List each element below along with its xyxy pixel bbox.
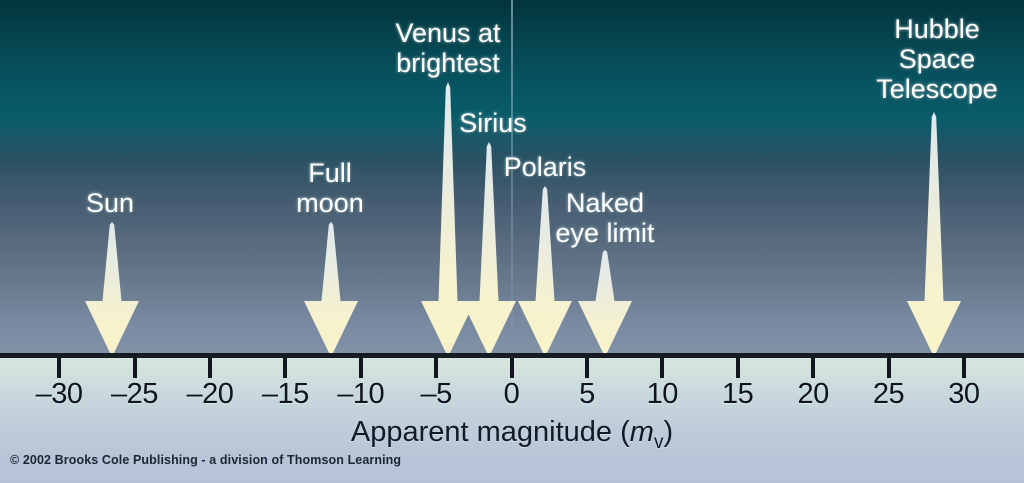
axis-title: Apparent magnitude (mv) bbox=[0, 416, 1024, 454]
axis-tick-label: –10 bbox=[337, 378, 384, 411]
axis-tick bbox=[887, 358, 891, 378]
axis-title-prefix: Apparent magnitude ( bbox=[351, 416, 630, 448]
copyright-notice: © 2002 Brooks Cole Publishing - a divisi… bbox=[10, 453, 401, 467]
axis-tick bbox=[359, 358, 363, 378]
magnitude-pointer-arrow bbox=[907, 112, 961, 357]
magnitude-pointer-arrow bbox=[304, 222, 358, 357]
axis-tick bbox=[57, 358, 61, 378]
axis-tick bbox=[736, 358, 740, 378]
axis-tick bbox=[208, 358, 212, 378]
object-label: Full moon bbox=[296, 158, 364, 218]
axis-tick-label: –30 bbox=[36, 378, 83, 411]
object-label: Hubble Space Telescope bbox=[876, 14, 998, 104]
axis-tick-label: 30 bbox=[948, 378, 979, 411]
axis-tick bbox=[133, 358, 137, 378]
axis-tick bbox=[962, 358, 966, 378]
axis-tick-label: 15 bbox=[722, 378, 753, 411]
axis-tick-label: 25 bbox=[873, 378, 904, 411]
object-label: Sun bbox=[86, 188, 134, 218]
axis-tick bbox=[811, 358, 815, 378]
axis-title-symbol: m bbox=[630, 416, 654, 448]
axis-tick-label: –20 bbox=[186, 378, 233, 411]
axis-tick bbox=[585, 358, 589, 378]
axis-tick-label: –15 bbox=[262, 378, 309, 411]
object-label: Sirius bbox=[459, 108, 527, 138]
axis-tick-label: –5 bbox=[420, 378, 451, 411]
object-label: Naked eye limit bbox=[555, 188, 654, 248]
axis-tick-label: 5 bbox=[579, 378, 595, 411]
axis-tick-label: –25 bbox=[111, 378, 158, 411]
axis-tick-label: 20 bbox=[797, 378, 828, 411]
magnitude-pointer-arrow bbox=[85, 222, 139, 357]
axis-tick bbox=[510, 358, 514, 378]
axis-tick bbox=[660, 358, 664, 378]
object-label: Venus at brightest bbox=[395, 18, 500, 78]
magnitude-pointer-arrow bbox=[578, 250, 632, 357]
axis-tick bbox=[283, 358, 287, 378]
apparent-magnitude-figure: SunFull moonVenus at brightestSiriusPola… bbox=[0, 0, 1024, 483]
axis-title-suffix: ) bbox=[663, 416, 673, 448]
axis-tick-label: 0 bbox=[504, 378, 520, 411]
object-label: Polaris bbox=[504, 152, 587, 182]
axis-tick-label: 10 bbox=[647, 378, 678, 411]
axis-tick bbox=[434, 358, 438, 378]
